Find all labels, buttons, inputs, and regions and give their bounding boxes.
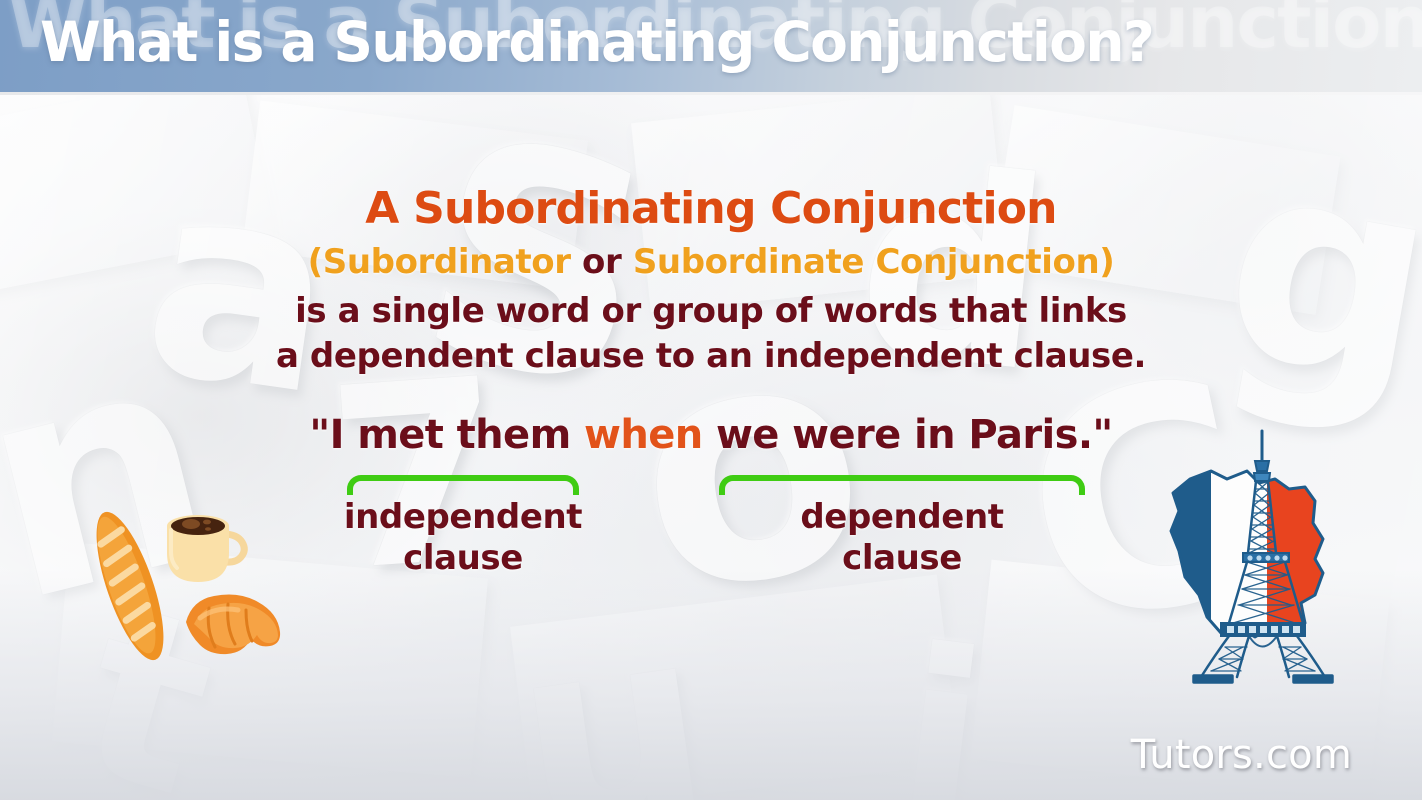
example-part-2: we were in Paris." bbox=[703, 412, 1113, 458]
definition-alt-names: (Subordinator or Subordinate Conjunction… bbox=[0, 245, 1422, 279]
baguette-icon bbox=[83, 505, 177, 667]
brace-independent-clause bbox=[347, 475, 579, 495]
coffee-cup-icon bbox=[167, 515, 244, 582]
definition-term: A Subordinating Conjunction bbox=[0, 187, 1422, 231]
page-title: What is a Subordinating Conjunction? bbox=[40, 10, 1153, 74]
definition-body-line-1: is a single word or group of words that … bbox=[0, 289, 1422, 334]
definition-alt-or: or bbox=[571, 242, 633, 282]
brace-dependent-clause bbox=[719, 475, 1085, 495]
label-dependent-clause: dependent clause bbox=[752, 497, 1052, 580]
label-independent-clause: independent clause bbox=[313, 497, 613, 580]
slide-canvas: n a 7 S o d C g t u j What is a Subordin… bbox=[0, 0, 1422, 800]
main-content: A Subordinating Conjunction (Subordinato… bbox=[0, 92, 1422, 800]
definition-alt-suffix: Subordinate Conjunction) bbox=[633, 242, 1115, 282]
definition-block: A Subordinating Conjunction (Subordinato… bbox=[0, 187, 1422, 379]
french-breakfast-icon bbox=[78, 496, 288, 676]
definition-body-line-2: a dependent clause to an independent cla… bbox=[0, 334, 1422, 379]
header-band: What is a Subordinating Conjunction What… bbox=[0, 0, 1422, 92]
example-part-1: "I met them bbox=[309, 412, 584, 458]
definition-alt-prefix: (Subordinator bbox=[308, 242, 571, 282]
watermark-tutors: Tutors.com bbox=[1131, 732, 1352, 778]
france-map-eiffel-tower-icon bbox=[1155, 427, 1370, 689]
example-keyword-when: when bbox=[584, 412, 703, 458]
croissant-icon bbox=[186, 594, 280, 654]
